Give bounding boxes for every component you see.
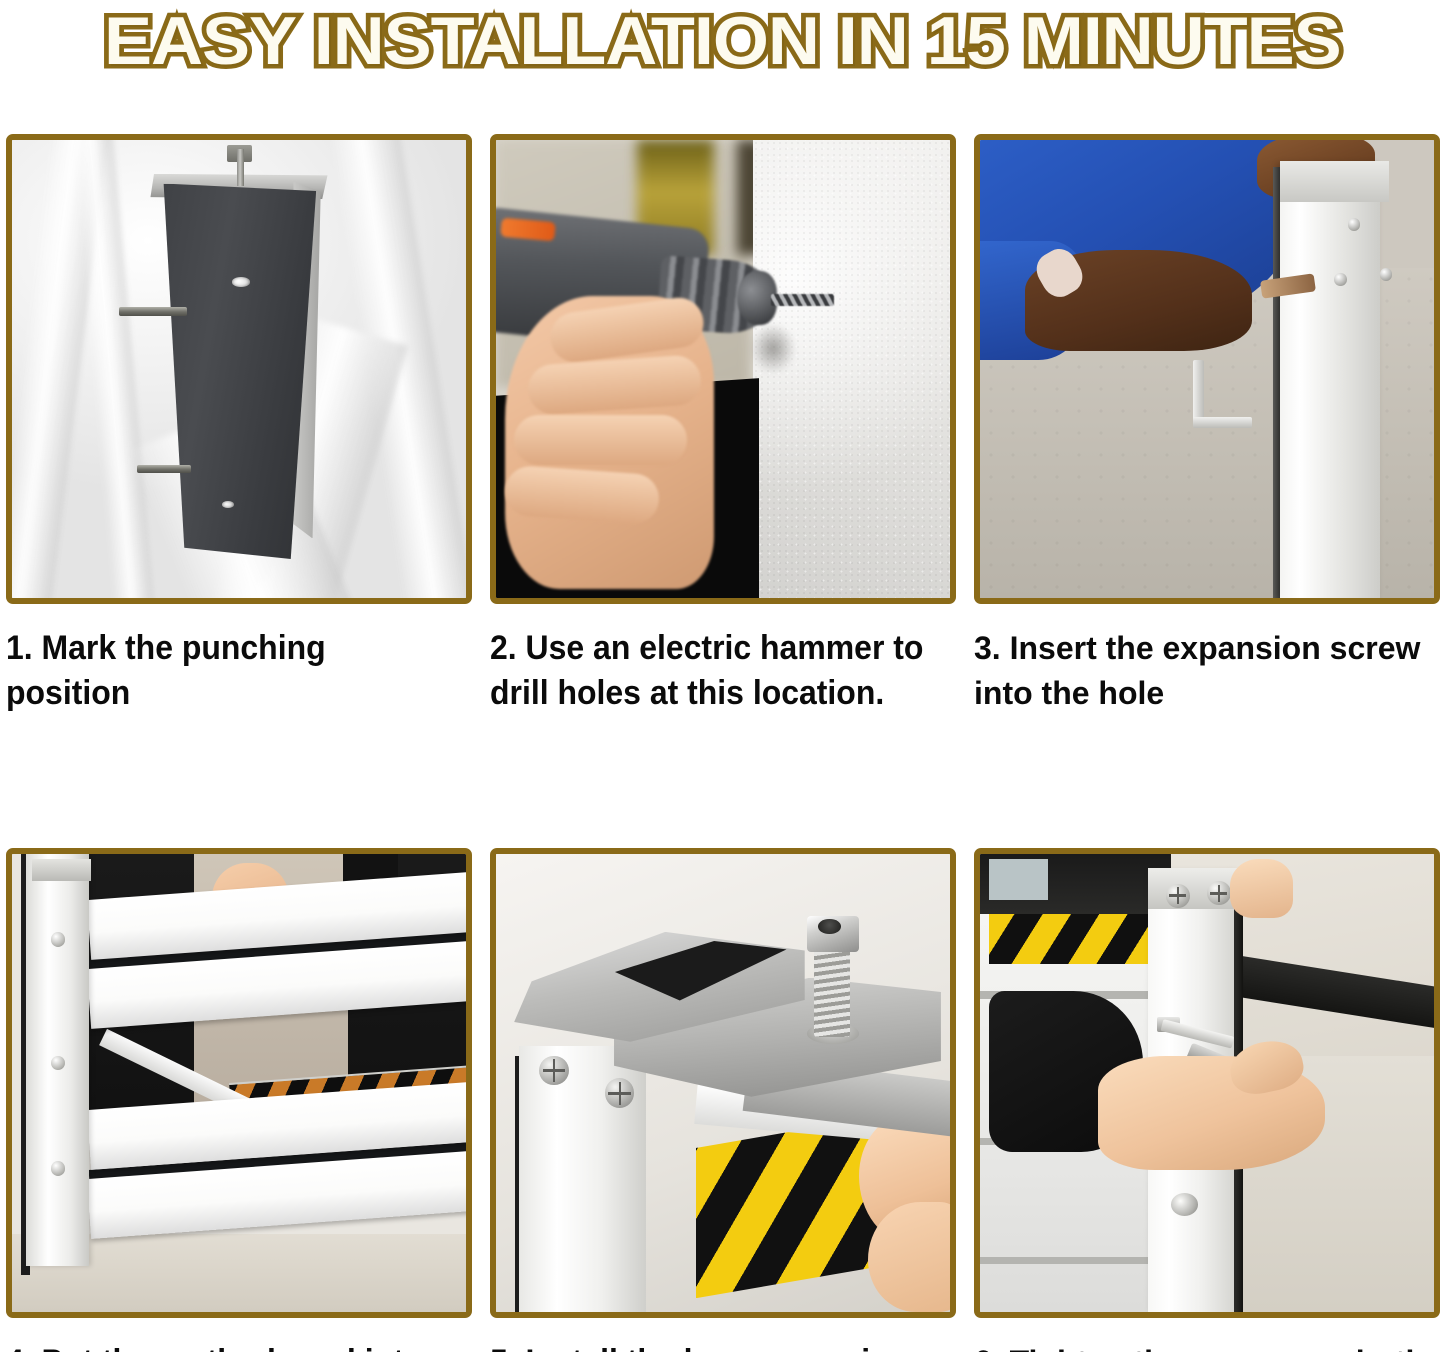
- column-screw: [51, 1056, 66, 1071]
- hazard-stripe-board: [989, 914, 1152, 964]
- step-1-caption: 1. Mark the punching position: [6, 626, 444, 716]
- steps-row-top: 1. Mark the punching position: [6, 134, 1439, 716]
- step-5-image-frame: [490, 848, 956, 1318]
- drill-dust: [750, 323, 795, 373]
- step-4-photo: [12, 854, 466, 1312]
- column-cap: [1280, 161, 1389, 202]
- step-3-photo: [980, 140, 1434, 598]
- step-3-image-frame: [974, 134, 1440, 604]
- alignment-pin: [137, 465, 191, 473]
- step-1-photo: [12, 140, 466, 598]
- phillips-screw-icon: [1166, 884, 1190, 908]
- step-4-caption: 4. Put the motherboard into the card slo…: [6, 1340, 444, 1352]
- step-2-caption: 2. Use an electric hammer to drill holes…: [490, 626, 928, 716]
- alignment-pin: [119, 307, 187, 316]
- step-5-caption: 5. Install the lower pressing parts on b…: [490, 1340, 928, 1352]
- finger: [514, 415, 687, 465]
- step-card-2: 2. Use an electric hammer to drill holes…: [490, 134, 956, 716]
- installation-guide-page: EASY INSTALLATION IN 15 MINUTES: [0, 0, 1445, 1352]
- column-screw: [1171, 1193, 1198, 1216]
- expansion-screw: [1334, 273, 1347, 286]
- step-card-6: 6. Tighten the screws on both sides of t…: [974, 848, 1440, 1352]
- step-5-photo: [496, 854, 950, 1312]
- allen-key-icon: [1193, 360, 1203, 424]
- step-1-image-frame: [6, 134, 472, 604]
- phillips-screw-icon: [539, 1056, 569, 1086]
- step-card-1: 1. Mark the punching position: [6, 134, 472, 716]
- page-title: EASY INSTALLATION IN 15 MINUTES: [104, 4, 1341, 78]
- step-6-photo: [980, 854, 1434, 1312]
- column-screw: [51, 1161, 66, 1176]
- steps-grid: 1. Mark the punching position: [6, 134, 1439, 1352]
- hex-socket: [818, 919, 841, 934]
- second-hand: [1230, 859, 1294, 919]
- step-card-4: 4. Put the motherboard into the card slo…: [6, 848, 472, 1352]
- step-4-image-frame: [6, 848, 472, 1318]
- cloth-fold: [71, 140, 157, 598]
- drill-bit-icon: [771, 294, 835, 306]
- expansion-screw: [1348, 218, 1361, 231]
- page-title-banner: EASY INSTALLATION IN 15 MINUTES: [0, 0, 1445, 118]
- phillips-screw-icon: [1207, 881, 1231, 905]
- step-2-photo: [496, 140, 950, 598]
- column-screw: [51, 932, 66, 947]
- step-2-image-frame: [490, 134, 956, 604]
- bolt-stem: [237, 149, 244, 186]
- expansion-screw: [1380, 268, 1393, 281]
- column-cap: [32, 859, 91, 882]
- allen-key-arm: [1193, 417, 1252, 428]
- step-6-caption: 6. Tighten the screws on both sides of t…: [974, 1340, 1440, 1352]
- board-seam: [980, 1257, 1162, 1264]
- step-card-3: 3. Insert the expansion screw into the h…: [974, 134, 1440, 716]
- step-3-caption: 3. Insert the expansion screw into the h…: [974, 626, 1440, 716]
- template-hole: [222, 501, 234, 508]
- step-card-5: 5. Install the lower pressing parts on b…: [490, 848, 956, 1352]
- white-column-post: [1280, 163, 1380, 598]
- background-object: [989, 859, 1048, 900]
- step-6-image-frame: [974, 848, 1440, 1318]
- steps-row-bottom: 4. Put the motherboard into the card slo…: [6, 848, 1439, 1352]
